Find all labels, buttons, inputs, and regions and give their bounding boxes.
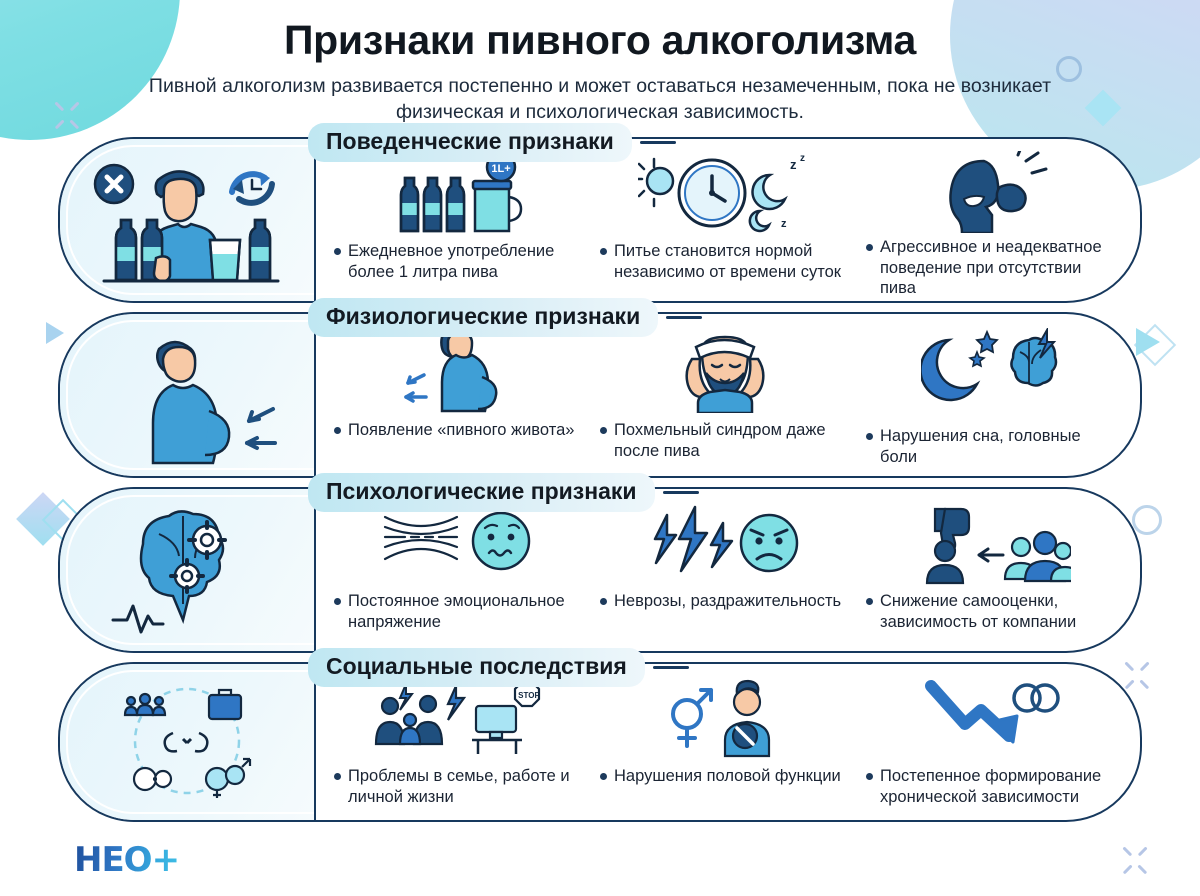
shouting-man-fist-icon	[926, 151, 1056, 233]
svg-text:STOP: STOP	[518, 691, 540, 700]
bullet: Постоянное эмоциональное напряжение	[334, 591, 584, 632]
bullet: Снижение самооценки, зависимость от комп…	[866, 591, 1116, 632]
section-title-psychological: Психологические признаки	[308, 473, 655, 511]
thumbs-down-group-icon	[911, 501, 1071, 587]
down-arrow-rings-icon	[921, 676, 1061, 762]
section-rule	[653, 666, 689, 669]
illustration-man-with-beer-bottles	[60, 139, 316, 301]
illustration-brain-gears	[60, 489, 316, 651]
list-item: Похмельный синдром даже после пива	[592, 322, 858, 468]
section-header-behavioral: Поведенческие признаки	[308, 123, 676, 161]
list-item: Агрессивное и неадекватное поведение при…	[858, 147, 1124, 293]
beer-belly-profile-icon	[404, 326, 514, 412]
bullet: Агрессивное и неадекватное поведение при…	[866, 237, 1116, 298]
bullet-dot	[600, 427, 607, 434]
section-card-psychological: Постоянное эмоциональное напряжение	[58, 487, 1142, 653]
bullet-text: Ежедневное употребление более 1 литра пи…	[348, 241, 584, 282]
bullet: Нарушения сна, головные боли	[866, 426, 1116, 467]
bullet-text: Питье становится нормой независимо от вр…	[614, 241, 850, 282]
bullet: Проблемы в семье, работе и личной жизни	[334, 766, 584, 807]
tension-lines-worried-face-icon	[379, 501, 539, 587]
bullet: Питье становится нормой независимо от вр…	[600, 241, 850, 282]
family-conflict-work-stop-icon: STOP	[372, 676, 547, 762]
list-item: Нарушения сна, головные боли	[858, 322, 1124, 468]
bullet-dot	[334, 427, 341, 434]
hangover-headache-icon	[670, 326, 780, 412]
bullet-text: Нарушения сна, головные боли	[880, 426, 1116, 467]
section-title-behavioral: Поведенческие признаки	[308, 123, 632, 161]
items-behavioral: 1L+ Ежедневное употребление более 1 литр…	[316, 139, 1140, 301]
gender-symbols-blocked-icon	[655, 676, 795, 762]
bullet-dot	[334, 598, 341, 605]
svg-text:z: z	[781, 218, 787, 230]
section-header-physiological: Физиологические признаки	[308, 298, 702, 336]
section-rule	[640, 141, 676, 144]
list-item: Постоянное эмоциональное напряжение	[326, 497, 592, 643]
list-item: STOP Проблемы в семье, работе и личной ж…	[326, 672, 592, 812]
section-card-physiological: Появление «пивного живота»	[58, 312, 1142, 478]
list-item: z z z Питье становится нормой независимо…	[592, 147, 858, 293]
bullet: Похмельный синдром даже после пива	[600, 420, 850, 461]
section-title-physiological: Физиологические признаки	[308, 298, 658, 336]
items-physiological: Появление «пивного живота»	[316, 314, 1140, 476]
sections-container: Поведенческие признаки	[0, 137, 1200, 822]
items-psychological: Постоянное эмоциональное напряжение	[316, 489, 1140, 651]
bullet: Постепенное формирование хронической зав…	[866, 766, 1116, 807]
items-social: STOP Проблемы в семье, работе и личной ж…	[316, 664, 1140, 820]
bullet-text: Постоянное эмоциональное напряжение	[348, 591, 584, 632]
bullet: Ежедневное употребление более 1 литра пи…	[334, 241, 584, 282]
bullet-text: Нарушения половой функции	[614, 766, 841, 786]
brand-logo: НЕО+	[74, 840, 179, 880]
illustration-broken-chain-family-work	[60, 664, 316, 820]
section-social: Социальные последствия	[58, 662, 1142, 822]
bullet-text: Похмельный синдром даже после пива	[614, 420, 850, 461]
svg-text:z: z	[790, 157, 797, 172]
list-item: Снижение самооценки, зависимость от комп…	[858, 497, 1124, 643]
section-rule	[663, 491, 699, 494]
bullet-dot	[334, 248, 341, 255]
list-item: 1L+ Ежедневное употребление более 1 литр…	[326, 147, 592, 293]
list-item: Неврозы, раздражительность	[592, 497, 858, 643]
svg-text:1L+: 1L+	[491, 163, 510, 175]
bullet-dot	[866, 433, 873, 440]
illustration-man-big-belly	[60, 314, 316, 476]
bullet-dot	[866, 598, 873, 605]
decorative-sparkle-bottom-right	[1120, 845, 1150, 875]
bullet-text: Неврозы, раздражительность	[614, 591, 841, 611]
section-psychological: Психологические признаки	[58, 487, 1142, 653]
bullet-dot	[600, 248, 607, 255]
bullet-text: Агрессивное и неадекватное поведение при…	[880, 237, 1116, 298]
bullet-dot	[600, 598, 607, 605]
section-rule	[666, 316, 702, 319]
bullet-dot	[600, 773, 607, 780]
list-item: Нарушения половой функции	[592, 672, 858, 812]
bullet: Неврозы, раздражительность	[600, 591, 850, 611]
moon-stars-brain-icon	[921, 326, 1061, 412]
bullet-text: Снижение самооценки, зависимость от комп…	[880, 591, 1116, 632]
lightning-angry-face-icon	[645, 501, 805, 587]
bullet-dot	[866, 773, 873, 780]
section-card-behavioral: 1L+ Ежедневное употребление более 1 литр…	[58, 137, 1142, 303]
bullet-dot	[334, 773, 341, 780]
page-title: Признаки пивного алкоголизма	[0, 18, 1200, 64]
bullet: Появление «пивного живота»	[334, 420, 584, 440]
section-physiological: Физиологические признаки	[58, 312, 1142, 478]
section-behavioral: Поведенческие признаки	[58, 137, 1142, 303]
bullet-text: Постепенное формирование хронической зав…	[880, 766, 1116, 807]
bullet: Нарушения половой функции	[600, 766, 850, 786]
page-header: Признаки пивного алкоголизма Пивной алко…	[0, 0, 1200, 125]
beer-bottles-1liter-icon: 1L+	[389, 151, 529, 237]
section-header-psychological: Психологические признаки	[308, 473, 699, 511]
page-subtitle: Пивной алкоголизм развивается постепенно…	[135, 74, 1065, 125]
list-item: Появление «пивного живота»	[326, 322, 592, 468]
section-header-social: Социальные последствия	[308, 648, 689, 686]
bullet-text: Проблемы в семье, работе и личной жизни	[348, 766, 584, 807]
svg-text:z: z	[800, 153, 805, 164]
bullet-text: Появление «пивного живота»	[348, 420, 574, 440]
clock-day-night-icon: z z z	[638, 151, 813, 237]
section-title-social: Социальные последствия	[308, 648, 645, 686]
bullet-dot	[866, 244, 873, 251]
list-item: Постепенное формирование хронической зав…	[858, 672, 1124, 812]
